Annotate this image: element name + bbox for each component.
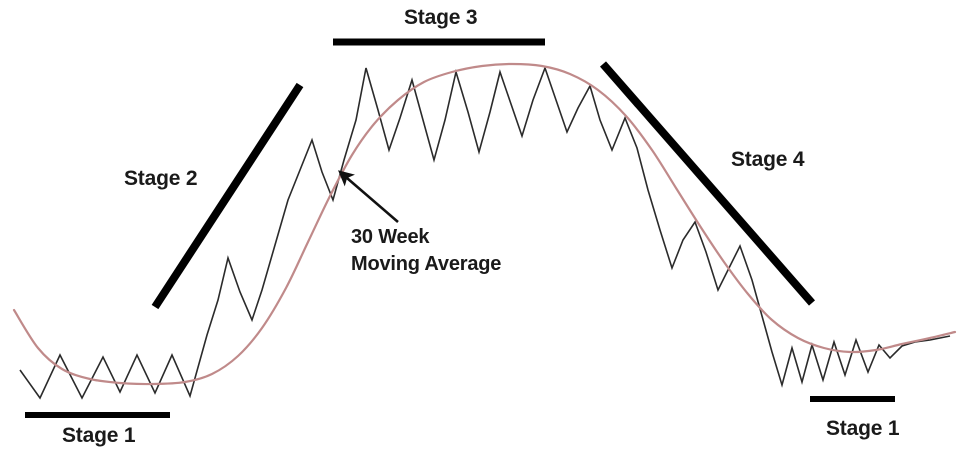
stage-analysis-chart: Stage 1 Stage 2 Stage 3 Stage 4 Stage 1 …	[0, 0, 972, 460]
moving-average-arrow-icon	[340, 172, 398, 222]
moving-average-annotation: 30 Week Moving Average	[351, 224, 501, 278]
stage-2-label: Stage 2	[124, 167, 197, 191]
stage-4-label: Stage 4	[731, 148, 804, 172]
stage-2-trendline	[155, 85, 300, 307]
moving-average-annotation-line-1: 30 Week	[351, 224, 501, 251]
stage-3-label: Stage 3	[404, 6, 477, 30]
stage-1-right-label: Stage 1	[826, 417, 899, 441]
stage-4-trendline	[603, 64, 812, 303]
stage-1-left-label: Stage 1	[62, 424, 135, 448]
moving-average-annotation-line-2: Moving Average	[351, 251, 501, 278]
